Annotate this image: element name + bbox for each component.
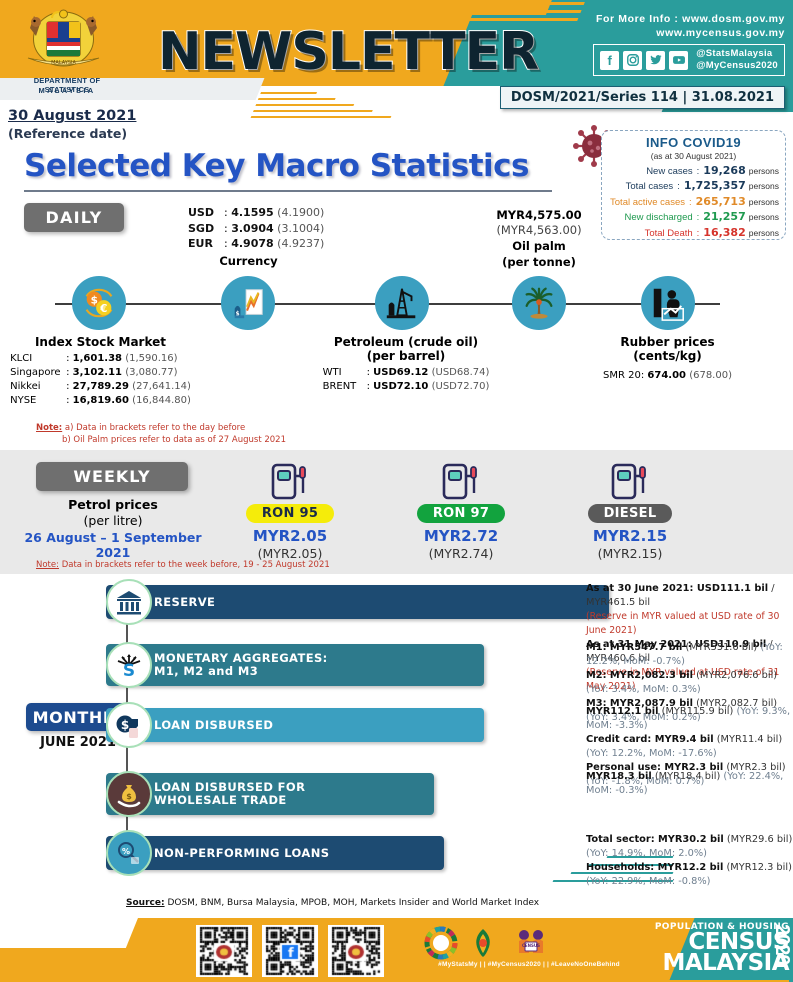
more-info-block: For More Info : www.dosm.gov.my www.myce… bbox=[596, 12, 785, 40]
covid-row: Total cases:1,725,357persons bbox=[602, 179, 785, 192]
row-value: 16,819.60 bbox=[73, 395, 129, 406]
census-line3: MALAYSIA bbox=[629, 953, 789, 974]
monthly-item: RESERVE bbox=[106, 585, 609, 619]
petroleum-rig-icon bbox=[375, 276, 429, 330]
covid-value: 265,713 bbox=[696, 195, 746, 208]
money-bag-hand-icon: $ bbox=[106, 771, 152, 817]
row-value: 674.00 bbox=[647, 370, 686, 381]
value-change: (YoY: 14.9%, MoM: 2.0%) bbox=[586, 848, 707, 859]
fuel-block-diesel: DIESEL MYR2.15 (MYR2.15) bbox=[555, 460, 705, 561]
svg-text:€: € bbox=[99, 303, 107, 315]
data-row: Singapore: 3,102.11 (3,080.77) bbox=[10, 366, 191, 380]
row-value: 27,789.29 bbox=[73, 381, 129, 392]
social-media-box: f @StatsMalaysia @MyCensus2020 bbox=[593, 44, 785, 76]
fx-code: SGD bbox=[188, 221, 224, 237]
rubber-rows: SMR 20: 674.00 (678.00) bbox=[603, 369, 732, 383]
daily-note-b: b) Oil Palm prices refer to data as of 2… bbox=[62, 435, 286, 445]
value-prev: (MYR12.3 bil) bbox=[723, 862, 792, 873]
instagram-icon[interactable] bbox=[623, 51, 642, 70]
monthly-item-values: MYR18.3 bil (MYR18.4 bil) (YoY: 22.4%, M… bbox=[586, 770, 793, 798]
header-tick-decor bbox=[249, 92, 401, 122]
row-sep: : bbox=[367, 367, 370, 378]
svg-text:CENSUS: CENSUS bbox=[522, 943, 540, 948]
rubber-tapping-icon bbox=[641, 276, 695, 330]
fuel-price: MYR2.72 bbox=[386, 527, 536, 545]
monthly-item: LOAN DISBURSED$ bbox=[106, 708, 484, 742]
svg-text:$: $ bbox=[126, 792, 132, 801]
value-prev: (MYR115.9 bil) bbox=[659, 706, 734, 717]
row-value: USD69.12 bbox=[373, 367, 428, 378]
data-row: NYSE: 16,819.60 (16,844.80) bbox=[10, 394, 191, 408]
covid-sep: : bbox=[697, 228, 700, 239]
stock-rows: KLCI: 1,601.38 (1,590.16)Singapore: 3,10… bbox=[10, 352, 191, 408]
covid-row: New discharged:21,257persons bbox=[602, 210, 785, 223]
fx-sep: : bbox=[224, 206, 228, 219]
covid-unit: persons bbox=[749, 212, 779, 222]
value-change: (YoY: 22.9%, MoM: -0.8%) bbox=[586, 876, 711, 887]
monthly-item-label2: M1, M2 and M3 bbox=[154, 665, 328, 678]
svg-text:S: S bbox=[123, 661, 135, 679]
covid-row: New cases:19,268persons bbox=[602, 164, 785, 177]
covid-unit: persons bbox=[749, 228, 779, 238]
department-name-line2: MALAYSIA bbox=[17, 86, 117, 95]
stock-market-block: Index Stock Market KLCI: 1,601.38 (1,590… bbox=[8, 335, 193, 408]
weekly-badge: WEEKLY bbox=[36, 462, 188, 491]
petroleum-rows: WTI: USD69.12 (USD68.74)BRENT: USD72.10 … bbox=[323, 366, 490, 394]
fx-sep: : bbox=[224, 237, 228, 250]
facebook-icon[interactable]: f bbox=[600, 51, 619, 70]
row-prev: (3,080.77) bbox=[125, 367, 177, 378]
qr-code-dosm[interactable] bbox=[196, 925, 252, 977]
monthly-value-line: Credit card: MYR9.4 bil (MYR11.4 bil) (Y… bbox=[586, 733, 793, 761]
monthly-value-line: M2: MYR2,082.3 bil (MYR2,076.6 bil) (YoY… bbox=[586, 669, 793, 697]
covid-unit: persons bbox=[749, 181, 779, 191]
petrol-pump-icon bbox=[555, 460, 705, 502]
covid-label: New discharged bbox=[625, 212, 693, 223]
newsletter-page: MALAYSIA DEPARTMENT OF STATISTICS MALAYS… bbox=[0, 0, 793, 982]
value-prev: (MYR29.6 bil) bbox=[724, 834, 793, 845]
value-bold: Credit card: MYR9.4 bil bbox=[586, 734, 714, 745]
fx-row: USD: 4.1595 (4.1900) bbox=[188, 205, 324, 221]
row-key: Nikkei bbox=[10, 380, 66, 394]
census-logo-block: POPULATION & HOUSING CENSUS MALAYSIA YOU… bbox=[629, 922, 789, 982]
partner-logos: CENSUS bbox=[424, 926, 554, 960]
petrol-pump-icon bbox=[215, 460, 365, 502]
monthly-item-label: NON-PERFORMING LOANS bbox=[154, 847, 329, 860]
monthly-item-values: Total sector: MYR30.2 bil (MYR29.6 bil) … bbox=[586, 833, 793, 889]
covid-sep: : bbox=[689, 197, 692, 208]
covid-row: Total active cases:265,713persons bbox=[602, 195, 785, 208]
weekly-note-label: Note: bbox=[36, 560, 59, 570]
monthly-item-pill[interactable]: RESERVE bbox=[106, 585, 609, 619]
fuel-type-pill: RON 97 bbox=[417, 504, 505, 523]
monthly-item: MONETARY AGGREGATES:M1, M2 and M3S bbox=[106, 644, 484, 686]
fx-value: 4.9078 bbox=[231, 237, 273, 250]
reference-date-label: (Reference date) bbox=[8, 126, 127, 141]
reference-date: 30 August 2021 bbox=[8, 108, 136, 124]
row-prev: (16,844.80) bbox=[132, 395, 191, 406]
data-row: KLCI: 1,601.38 (1,590.16) bbox=[10, 352, 191, 366]
covid-info-box: INFO COVID19 (as at 30 August 2021) New … bbox=[601, 130, 786, 240]
title-divider bbox=[24, 190, 552, 192]
svg-text:%: % bbox=[122, 847, 130, 856]
monthly-item-pill[interactable]: NON-PERFORMING LOANS bbox=[106, 836, 444, 870]
daily-note-label: Note: bbox=[36, 423, 62, 433]
row-key: KLCI bbox=[10, 352, 66, 366]
weekly-note-text: Data in brackets refer to the week befor… bbox=[62, 560, 330, 570]
value-bold: M1: MYR547.7 bil bbox=[586, 642, 682, 653]
value-change: (YoY: 12.2%, MoM: -17.6%) bbox=[586, 748, 717, 759]
petroleum-unit: (per barrel) bbox=[316, 349, 496, 363]
covid-value: 16,382 bbox=[703, 226, 745, 239]
value-prev: (MYR551.6 bil) bbox=[682, 642, 757, 653]
stock-heading: Index Stock Market bbox=[8, 335, 193, 349]
fx-row: EUR: 4.9078 (4.9237) bbox=[188, 236, 324, 252]
bank-icon bbox=[106, 579, 152, 625]
row-value: USD72.10 bbox=[373, 381, 428, 392]
value-bold: Total sector: MYR30.2 bil bbox=[586, 834, 724, 845]
loan-money-icon: $ bbox=[106, 702, 152, 748]
row-key: BRENT bbox=[323, 380, 367, 394]
mystats-logo-icon bbox=[466, 926, 500, 960]
oil-palm-block: MYR4,575.00 (MYR4,563.00) Oil palm (per … bbox=[474, 208, 604, 270]
sdg-wheel-icon bbox=[424, 926, 458, 960]
row-sep: : bbox=[66, 353, 69, 364]
monthly-item: LOAN DISBURSED FORWHOLESALE TRADE$ bbox=[106, 773, 434, 815]
covid-label: Total cases bbox=[626, 181, 674, 192]
covid-rows: New cases:19,268personsTotal cases:1,725… bbox=[602, 164, 785, 239]
fx-code: USD bbox=[188, 205, 224, 221]
rubber-block: Rubber prices (cents/kg) SMR 20: 674.00 … bbox=[580, 335, 755, 383]
fuel-price-prev: (MYR2.05) bbox=[215, 546, 365, 561]
weekly-note: Note: Data in brackets refer to the week… bbox=[36, 560, 330, 570]
twitter-icon[interactable] bbox=[646, 51, 665, 70]
fuel-price: MYR2.05 bbox=[215, 527, 365, 545]
weekly-period: 26 August – 1 September 2021 bbox=[14, 530, 212, 560]
covid-label: New cases bbox=[646, 166, 692, 177]
fuel-price: MYR2.15 bbox=[555, 527, 705, 545]
fuel-price-prev: (MYR2.15) bbox=[555, 546, 705, 561]
daily-badge: DAILY bbox=[24, 203, 124, 232]
monthly-item-label: LOAN DISBURSED bbox=[154, 719, 273, 732]
data-row: SMR 20: 674.00 (678.00) bbox=[603, 369, 732, 383]
currency-chart-icon: $ bbox=[221, 276, 275, 330]
row-sep: : bbox=[66, 367, 69, 378]
covid-value: 1,725,357 bbox=[684, 179, 746, 192]
covid-sep: : bbox=[697, 166, 700, 177]
value-prev: (MYR11.4 bil) bbox=[714, 734, 783, 745]
oil-palm-prev: (MYR4,563.00) bbox=[474, 223, 604, 238]
monthly-value-line: MYR18.3 bil (MYR18.4 bil) (YoY: 22.4%, M… bbox=[586, 770, 793, 798]
fx-code: EUR bbox=[188, 236, 224, 252]
handle-statsmalaysia: @StatsMalaysia bbox=[696, 48, 778, 60]
monthly-item: NON-PERFORMING LOANS% bbox=[106, 836, 444, 870]
covid-row: Total Death:16,382persons bbox=[602, 226, 785, 239]
monthly-label-wrap: LOAN DISBURSED FORWHOLESALE TRADE bbox=[154, 781, 305, 807]
row-prev: (678.00) bbox=[689, 370, 732, 381]
monthly-item-label: RESERVE bbox=[154, 596, 215, 609]
qr-code-facebook[interactable] bbox=[262, 925, 318, 977]
oil-palm-label: Oil palm bbox=[474, 239, 604, 254]
rubber-heading: Rubber prices bbox=[580, 335, 755, 349]
series-tag: DOSM/2021/Series 114 | 31.08.2021 bbox=[500, 86, 785, 109]
source-text: DOSM, BNM, Bursa Malaysia, MPOB, MOH, Ma… bbox=[167, 898, 539, 908]
value-bold: MYR112.1 bil bbox=[586, 706, 659, 717]
monthly-item-pill[interactable]: LOAN DISBURSED FORWHOLESALE TRADE bbox=[106, 773, 434, 815]
youtube-icon[interactable] bbox=[669, 51, 688, 70]
value-prev: (MYR18.4 bil) bbox=[652, 771, 721, 782]
monthly-value-line: (Reserve in MYR valued at USD rate of 30… bbox=[586, 610, 793, 638]
stock-market-icon: $ € bbox=[72, 276, 126, 330]
covid-value: 21,257 bbox=[703, 210, 745, 223]
covid-subtitle: (as at 30 August 2021) bbox=[602, 151, 785, 161]
rubber-unit: (cents/kg) bbox=[580, 349, 755, 363]
row-sep: : bbox=[66, 381, 69, 392]
data-row: WTI: USD69.12 (USD68.74) bbox=[323, 366, 490, 380]
currency-rates-list: USD: 4.1595 (4.1900) SGD: 3.0904 (3.1004… bbox=[188, 205, 324, 252]
more-info-label: For More Info : bbox=[596, 13, 679, 25]
value-prev: (MYR2,076.6 bil) bbox=[693, 670, 777, 681]
monthly-item-label2: WHOLESALE TRADE bbox=[154, 794, 305, 807]
row-key: NYSE bbox=[10, 394, 66, 408]
source-line: Source: DOSM, BNM, Bursa Malaysia, MPOB,… bbox=[126, 898, 539, 908]
qr-code-mycensus[interactable] bbox=[328, 925, 384, 977]
fx-sep: : bbox=[224, 222, 228, 235]
monthly-item-pill[interactable]: MONETARY AGGREGATES:M1, M2 and M3 bbox=[106, 644, 484, 686]
data-row: BRENT: USD72.10 (USD72.70) bbox=[323, 380, 490, 394]
svg-text:$: $ bbox=[91, 294, 98, 306]
row-sep: : bbox=[367, 381, 370, 392]
fx-value: 3.0904 bbox=[231, 222, 273, 235]
svg-text:$: $ bbox=[121, 718, 129, 732]
fuel-block-ron97: RON 97 MYR2.72 (MYR2.74) bbox=[386, 460, 536, 561]
value-change: (YoY: 3.4%, MoM: 0.3%) bbox=[586, 684, 701, 695]
covid-unit: persons bbox=[749, 197, 779, 207]
handle-mycensus2020: @MyCensus2020 bbox=[696, 60, 778, 72]
value-bold: MYR18.3 bil bbox=[586, 771, 652, 782]
row-key: SMR 20: bbox=[603, 369, 644, 383]
source-label: Source: bbox=[126, 898, 165, 908]
currency-label: Currency bbox=[196, 254, 301, 268]
daily-note: Note: a) Data in brackets refer to the d… bbox=[36, 422, 286, 446]
svg-text:MALAYSIA: MALAYSIA bbox=[51, 60, 76, 66]
weekly-labels: Petrol prices (per litre) 26 August – 1 … bbox=[14, 497, 212, 560]
social-handles: @StatsMalaysia @MyCensus2020 bbox=[696, 48, 778, 72]
fuel-type-pill: DIESEL bbox=[588, 504, 673, 523]
petrol-pump-icon bbox=[386, 460, 536, 502]
row-sep: : bbox=[66, 395, 69, 406]
daily-note-a: a) Data in brackets refer to the day bef… bbox=[65, 423, 245, 433]
oil-palm-tree-icon bbox=[512, 276, 566, 330]
series-number: DOSM/2021/Series 114 bbox=[511, 90, 678, 105]
monthly-value-line: Households: MYR12.2 bil (MYR12.3 bil) (Y… bbox=[586, 861, 793, 889]
fuel-price-prev: (MYR2.74) bbox=[386, 546, 536, 561]
covid-sep: : bbox=[697, 212, 700, 223]
oil-palm-unit: (per tonne) bbox=[474, 255, 604, 270]
census-mascot-icon: CENSUS bbox=[508, 926, 554, 960]
monthly-value-line: Total sector: MYR30.2 bil (MYR29.6 bil) … bbox=[586, 833, 793, 861]
malaysia-coat-of-arms: MALAYSIA bbox=[16, 6, 111, 76]
covid-sep: : bbox=[677, 181, 680, 192]
covid-title: INFO COVID19 bbox=[602, 135, 785, 150]
census-year: 2020 bbox=[774, 924, 789, 965]
covid-label: Total Death bbox=[645, 228, 693, 239]
money-aggregate-icon: S bbox=[106, 642, 152, 688]
petroleum-block: Petroleum (crude oil) (per barrel) WTI: … bbox=[316, 335, 496, 394]
monthly-item-pill[interactable]: LOAN DISBURSED bbox=[106, 708, 484, 742]
fx-prev: (3.1004) bbox=[277, 222, 324, 235]
monthly-value-line: MYR112.1 bil (MYR115.9 bil) (YoY: 9.3%, … bbox=[586, 705, 793, 733]
value-bold: As at 30 June 2021: USD111.1 bil bbox=[586, 583, 768, 594]
petrol-unit-label: (per litre) bbox=[14, 513, 212, 528]
row-prev: (USD72.70) bbox=[432, 381, 490, 392]
fx-prev: (4.1900) bbox=[277, 206, 324, 219]
website-mycensus[interactable]: www.mycensus.gov.my bbox=[656, 27, 785, 39]
website-dosm[interactable]: www.dosm.gov.my bbox=[682, 13, 785, 25]
row-value: 1,601.38 bbox=[73, 353, 122, 364]
non-performing-loans-icon: % bbox=[106, 830, 152, 876]
fuel-type-pill: RON 95 bbox=[246, 504, 334, 523]
page-title: Selected Key Macro Statistics bbox=[24, 148, 529, 184]
monthly-value-line: M1: MYR547.7 bil (MYR551.6 bil) (YoY: 12… bbox=[586, 641, 793, 669]
row-key: WTI bbox=[323, 366, 367, 380]
row-value: 3,102.11 bbox=[73, 367, 122, 378]
covid-unit: persons bbox=[749, 166, 779, 176]
oil-palm-value: MYR4,575.00 bbox=[474, 208, 604, 223]
fuel-block-ron95: RON 95 MYR2.05 (MYR2.05) bbox=[215, 460, 365, 561]
covid-value: 19,268 bbox=[703, 164, 745, 177]
hashtags: #MyStatsMy | | #MyCensus2020 | | #LeaveN… bbox=[414, 961, 644, 968]
value-bold: M2: MYR2,082.3 bil bbox=[586, 670, 693, 681]
row-prev: (1,590.16) bbox=[125, 353, 177, 364]
newsletter-wordmark: NEWSLETTER bbox=[158, 22, 538, 82]
series-divider: | bbox=[682, 90, 687, 105]
row-prev: (27,641.14) bbox=[132, 381, 191, 392]
row-prev: (USD68.74) bbox=[432, 367, 490, 378]
covid-label: Total active cases bbox=[610, 197, 685, 208]
monthly-label-wrap: MONETARY AGGREGATES:M1, M2 and M3 bbox=[154, 652, 328, 678]
fx-prev: (4.9237) bbox=[277, 237, 324, 250]
series-date: 31.08.2021 bbox=[692, 90, 774, 105]
data-row: Nikkei: 27,789.29 (27,641.14) bbox=[10, 380, 191, 394]
fx-row: SGD: 3.0904 (3.1004) bbox=[188, 221, 324, 237]
value-bold: Households: MYR12.2 bil bbox=[586, 862, 723, 873]
row-key: Singapore bbox=[10, 366, 66, 380]
fx-value: 4.1595 bbox=[231, 206, 273, 219]
monthly-value-line: As at 30 June 2021: USD111.1 bil / MYR46… bbox=[586, 582, 793, 610]
petrol-prices-label: Petrol prices bbox=[14, 497, 212, 512]
petroleum-heading: Petroleum (crude oil) bbox=[316, 335, 496, 349]
